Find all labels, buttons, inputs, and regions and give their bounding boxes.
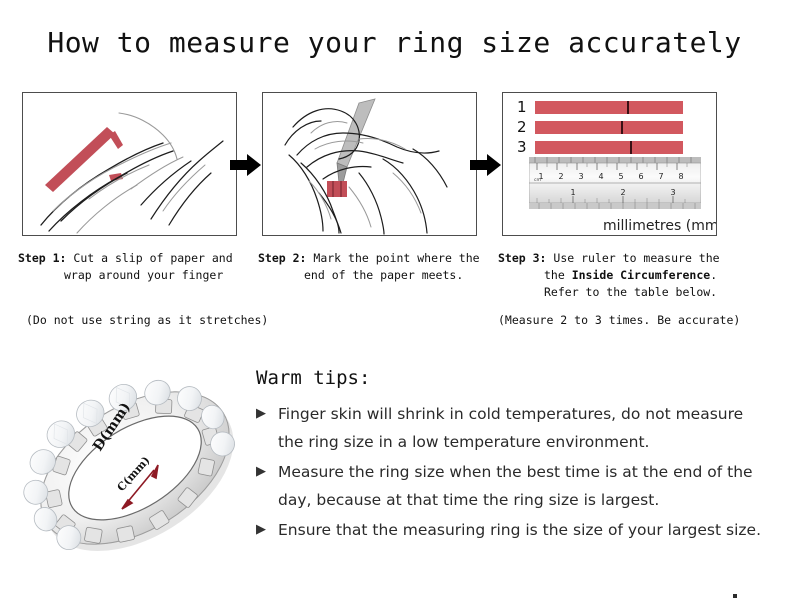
svg-text:7: 7 xyxy=(658,172,663,181)
step-1-image-panel xyxy=(22,92,237,236)
strip-number: 2 xyxy=(517,118,527,136)
warm-tip-item: ▶ Finger skin will shrink in cold temper… xyxy=(256,400,766,456)
step-2-caption: Step 2: Mark the point where the end of … xyxy=(258,250,494,284)
svg-text:8: 8 xyxy=(678,172,683,181)
warm-tip-item: ▶ Measure the ring size when the best ti… xyxy=(256,458,766,514)
ruler-icon: 12 34 56 78 cm 123 xyxy=(529,157,701,209)
step-2-line1: Mark the point where the xyxy=(313,251,479,265)
step-3-line2-pre: the xyxy=(544,268,572,282)
warm-tips-heading: Warm tips: xyxy=(256,367,370,389)
step-3-line3: Refer to the table below. xyxy=(498,284,742,301)
svg-text:5: 5 xyxy=(618,172,623,181)
right-arrow-icon xyxy=(230,152,262,178)
svg-text:6: 6 xyxy=(638,172,643,181)
warm-tip-text: Measure the ring size when the best time… xyxy=(278,463,753,509)
step-3-line1: Use ruler to measure the xyxy=(553,251,719,265)
strip-number: 1 xyxy=(517,98,527,116)
strip-bar xyxy=(535,121,683,134)
step-1-note: (Do not use string as it stretches) xyxy=(26,313,268,327)
svg-text:2: 2 xyxy=(558,172,563,181)
step-2-line2: end of the paper meets. xyxy=(258,267,494,284)
warm-tip-text: Ensure that the measuring ring is the si… xyxy=(278,521,761,539)
step-1-line2: wrap around your finger xyxy=(18,267,254,284)
step-2-label: Step 2: xyxy=(258,251,306,265)
strip-mark xyxy=(630,141,632,154)
step-3-note: (Measure 2 to 3 times. Be accurate) xyxy=(498,313,740,327)
svg-text:1: 1 xyxy=(570,188,575,197)
bullet-arrow-icon: ▶ xyxy=(256,400,266,428)
strip-mark xyxy=(627,101,629,114)
step-1-line1: Cut a slip of paper and xyxy=(73,251,232,265)
step-1-caption: Step 1: Cut a slip of paper and wrap aro… xyxy=(18,250,254,284)
right-arrow-icon xyxy=(470,152,502,178)
page-title: How to measure your ring size accurately xyxy=(0,26,789,59)
inside-circumference-emphasis: Inside Circumference xyxy=(572,268,710,282)
svg-text:3: 3 xyxy=(670,188,675,197)
hands-marking-paper-strip-illustration xyxy=(263,93,476,235)
svg-text:4: 4 xyxy=(598,172,603,181)
svg-text:3: 3 xyxy=(578,172,583,181)
warm-tips-list: ▶ Finger skin will shrink in cold temper… xyxy=(256,400,766,546)
image-artifact-speck xyxy=(733,594,737,598)
step-3-label: Step 3: xyxy=(498,251,546,265)
warm-tip-text: Finger skin will shrink in cold temperat… xyxy=(278,405,743,451)
step-3-caption: Step 3: Use ruler to measure the the Ins… xyxy=(498,250,742,301)
bullet-arrow-icon: ▶ xyxy=(256,516,266,544)
strip-number: 3 xyxy=(517,138,527,156)
svg-text:2: 2 xyxy=(620,188,625,197)
bullet-arrow-icon: ▶ xyxy=(256,458,266,486)
step-2-image-panel xyxy=(262,92,477,236)
svg-text:cm: cm xyxy=(534,178,541,183)
hand-with-paper-strip-illustration xyxy=(23,93,236,235)
strip-mark xyxy=(621,121,623,134)
warm-tip-item: ▶ Ensure that the measuring ring is the … xyxy=(256,516,766,544)
eternity-ring-photo: D(mm) C(mm) xyxy=(22,352,248,584)
ruler-unit-label: millimetres (mm) xyxy=(603,218,717,234)
step-3-image-panel: 1 2 3 xyxy=(502,92,717,236)
strip-bar xyxy=(535,101,683,114)
step-3-line2: the Inside Circumference. xyxy=(498,267,742,284)
strip-bar xyxy=(535,141,683,154)
step-1-label: Step 1: xyxy=(18,251,66,265)
step-3-line2-post: . xyxy=(710,268,717,282)
